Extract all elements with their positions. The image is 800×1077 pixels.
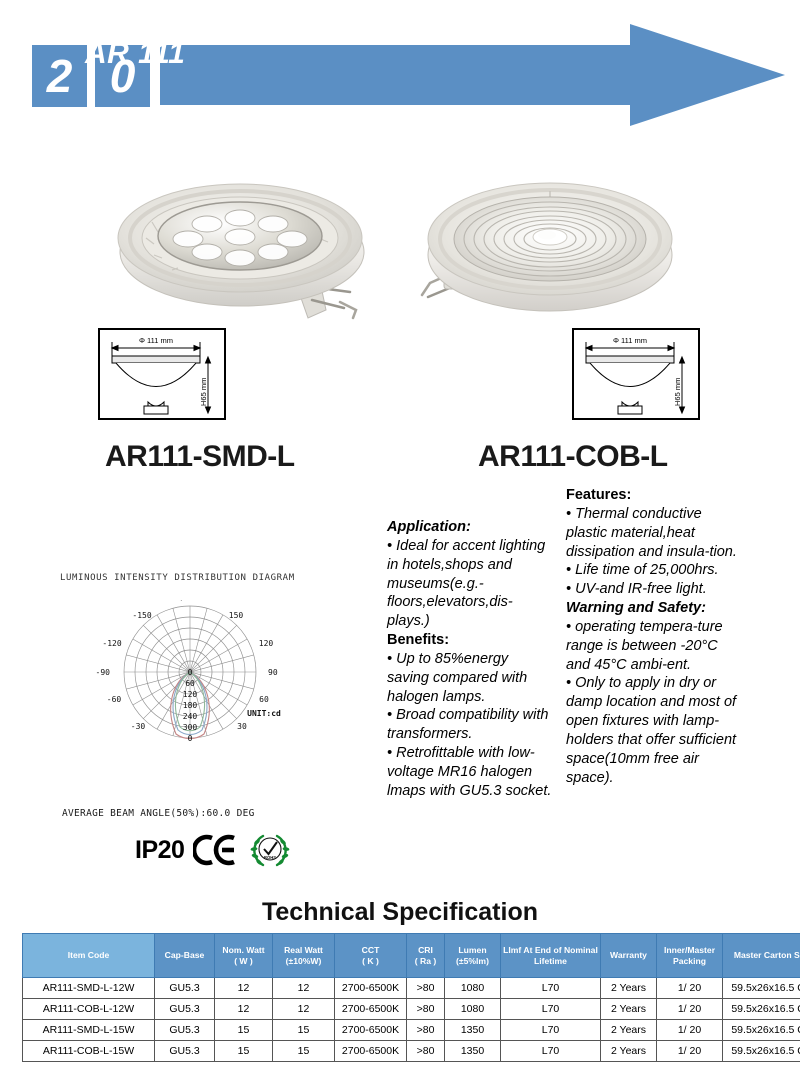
benefit-item: • Broad compatibility with transformers. xyxy=(387,706,553,744)
svg-text:30: 30 xyxy=(237,722,247,731)
svg-text:-30: -30 xyxy=(131,722,146,731)
dimension-diagram-smd: Φ 111 mm H65 mm xyxy=(98,328,226,420)
feature-item: • Life time of 25,000hrs. xyxy=(566,561,742,580)
table-cell: 1/ 20 xyxy=(657,1041,723,1062)
page-number-digit-1: 2 xyxy=(32,45,87,107)
table-row: AR111-COB-L-15WGU5.315152700-6500K>80135… xyxy=(23,1041,800,1062)
table-cell: 2 Years xyxy=(601,1041,657,1062)
polar-chart-title: LUMINOUS INTENSITY DISTRIBUTION DIAGRAM xyxy=(60,573,295,583)
svg-text:-60: -60 xyxy=(107,695,122,704)
certification-logos: IP20 ROHS xyxy=(135,830,294,870)
table-cell: GU5.3 xyxy=(155,1020,215,1041)
table-cell: GU5.3 xyxy=(155,978,215,999)
ip-rating-text: IP20 xyxy=(135,836,184,865)
table-cell: L70 xyxy=(501,978,601,999)
svg-text:180: 180 xyxy=(183,701,198,710)
table-header-cell: Cap-Base xyxy=(155,934,215,978)
table-header-cell: CRI( Ra ) xyxy=(407,934,445,978)
table-cell: L70 xyxy=(501,1041,601,1062)
table-cell: 2 Years xyxy=(601,978,657,999)
warning-item: • operating tempera-ture range is betwee… xyxy=(566,618,742,675)
table-header-cell: Real Watt(±10%W) xyxy=(273,934,335,978)
svg-text:150: 150 xyxy=(229,611,244,620)
table-cell: 12 xyxy=(215,999,273,1020)
svg-text:0: 0 xyxy=(188,734,193,743)
svg-text:-90: -90 xyxy=(96,668,111,677)
table-cell: 1080 xyxy=(445,978,501,999)
table-cell: GU5.3 xyxy=(155,1041,215,1062)
svg-text:60: 60 xyxy=(185,679,195,688)
page-title: AR 111 xyxy=(85,37,185,71)
feature-item: • UV-and IR-free light. xyxy=(566,580,742,599)
svg-text:240: 240 xyxy=(183,712,198,721)
table-cell: 2700-6500K xyxy=(335,978,407,999)
table-cell: >80 xyxy=(407,978,445,999)
table-cell: 12 xyxy=(273,978,335,999)
table-cell: AR111-SMD-L-15W xyxy=(23,1020,155,1041)
table-header-cell: Warranty xyxy=(601,934,657,978)
table-cell: AR111-COB-L-15W xyxy=(23,1041,155,1062)
luminous-intensity-polar-chart: 0 60 120 180 240 300 0 -/+180 150 120 90… xyxy=(78,600,328,800)
table-cell: AR111-SMD-L-12W xyxy=(23,978,155,999)
table-cell: 2700-6500K xyxy=(335,1041,407,1062)
application-item: • Ideal for accent lighting in hotels,sh… xyxy=(387,537,553,631)
table-header-cell: LImf At End of Nominal Lifetime xyxy=(501,934,601,978)
arrow-shape-icon xyxy=(160,20,785,130)
table-cell: 59.5x26x16.5 CM xyxy=(723,978,800,999)
table-cell: 1/ 20 xyxy=(657,999,723,1020)
application-heading: Application: xyxy=(387,518,553,537)
table-row: AR111-SMD-L-12WGU5.312122700-6500K>80108… xyxy=(23,978,800,999)
benefit-item: • Retrofittable with low-voltage MR16 ha… xyxy=(387,744,553,801)
table-cell: >80 xyxy=(407,999,445,1020)
dim-height-label: H65 mm xyxy=(673,378,682,406)
product-name-smd: AR111-SMD-L xyxy=(105,440,295,474)
ar111-cob-lamp-photo xyxy=(400,155,700,335)
header-arrow-banner xyxy=(160,20,785,130)
features-warning-column: Features: • Thermal conductive plastic m… xyxy=(566,486,742,788)
table-cell: 2700-6500K xyxy=(335,1020,407,1041)
warning-heading: Warning and Safety: xyxy=(566,599,742,618)
svg-text:60: 60 xyxy=(259,695,269,704)
dim-height-label: H65 mm xyxy=(199,378,208,406)
table-header-cell: Master Carton Size xyxy=(723,934,800,978)
table-cell: >80 xyxy=(407,1041,445,1062)
table-cell: 12 xyxy=(215,978,273,999)
feature-item: • Thermal conductive plastic material,he… xyxy=(566,505,742,562)
table-cell: 59.5x26x16.5 CM xyxy=(723,1020,800,1041)
table-cell: 15 xyxy=(273,1041,335,1062)
table-cell: 1350 xyxy=(445,1041,501,1062)
benefit-item: • Up to 85%energy saving compared with h… xyxy=(387,650,553,707)
table-cell: L70 xyxy=(501,999,601,1020)
table-cell: 12 xyxy=(273,999,335,1020)
table-cell: 59.5x26x16.5 CM xyxy=(723,999,800,1020)
spec-table-title: Technical Specification xyxy=(0,898,800,927)
table-cell: AR111-COB-L-12W xyxy=(23,999,155,1020)
table-header-cell: Nom. Watt( W ) xyxy=(215,934,273,978)
product-name-cob: AR111-COB-L xyxy=(478,440,668,474)
table-body: AR111-SMD-L-12WGU5.312122700-6500K>80108… xyxy=(23,978,800,1062)
svg-text:90: 90 xyxy=(268,668,278,677)
rohs-label: ROHS xyxy=(264,855,276,860)
application-benefits-column: Application: • Ideal for accent lighting… xyxy=(387,518,553,801)
dim-diameter-label: Φ 111 mm xyxy=(613,336,647,345)
svg-text:0: 0 xyxy=(188,668,193,677)
table-cell: 1/ 20 xyxy=(657,978,723,999)
table-cell: L70 xyxy=(501,1020,601,1041)
table-cell: 15 xyxy=(215,1020,273,1041)
table-cell: 15 xyxy=(215,1041,273,1062)
dimension-diagram-cob: Φ 111 mm H65 mm xyxy=(572,328,700,420)
ce-mark-icon xyxy=(193,834,237,866)
table-row: AR111-COB-L-12WGU5.312122700-6500K>80108… xyxy=(23,999,800,1020)
page-header: 2 0 AR 111 xyxy=(0,0,800,145)
table-header-row: Item CodeCap-BaseNom. Watt( W )Real Watt… xyxy=(23,934,800,978)
table-header-cell: Lumen(±5%lm) xyxy=(445,934,501,978)
svg-text:120: 120 xyxy=(259,639,274,648)
table-cell: 2 Years xyxy=(601,999,657,1020)
benefits-heading: Benefits: xyxy=(387,631,553,650)
table-cell: 1350 xyxy=(445,1020,501,1041)
table-header-cell: CCT( K ) xyxy=(335,934,407,978)
warning-item: • Only to apply in dry or damp location … xyxy=(566,674,742,787)
table-cell: GU5.3 xyxy=(155,999,215,1020)
table-cell: 2 Years xyxy=(601,1020,657,1041)
rohs-wreath-icon: ROHS xyxy=(246,830,294,870)
svg-text:300: 300 xyxy=(183,723,198,732)
table-cell: 59.5x26x16.5 CM xyxy=(723,1041,800,1062)
table-cell: 1080 xyxy=(445,999,501,1020)
polar-unit-label: UNIT:cd xyxy=(247,709,281,718)
table-cell: >80 xyxy=(407,1020,445,1041)
svg-text:120: 120 xyxy=(183,690,198,699)
table-header-cell: Inner/Master Packing xyxy=(657,934,723,978)
table-header-cell: Item Code xyxy=(23,934,155,978)
ar111-smd-lamp-photo xyxy=(112,160,412,335)
table-cell: 15 xyxy=(273,1020,335,1041)
polar-beam-angle-caption: AVERAGE BEAM ANGLE(50%):60.0 DEG xyxy=(62,808,255,819)
svg-text:-/+180: -/+180 xyxy=(176,600,205,602)
table-row: AR111-SMD-L-15WGU5.315152700-6500K>80135… xyxy=(23,1020,800,1041)
table-cell: 1/ 20 xyxy=(657,1020,723,1041)
table-cell: 2700-6500K xyxy=(335,999,407,1020)
dim-diameter-label: Φ 111 mm xyxy=(139,336,173,345)
svg-text:-150: -150 xyxy=(132,611,151,620)
features-heading: Features: xyxy=(566,486,742,505)
technical-specification-table: Item CodeCap-BaseNom. Watt( W )Real Watt… xyxy=(22,933,800,1062)
svg-text:-120: -120 xyxy=(102,639,121,648)
